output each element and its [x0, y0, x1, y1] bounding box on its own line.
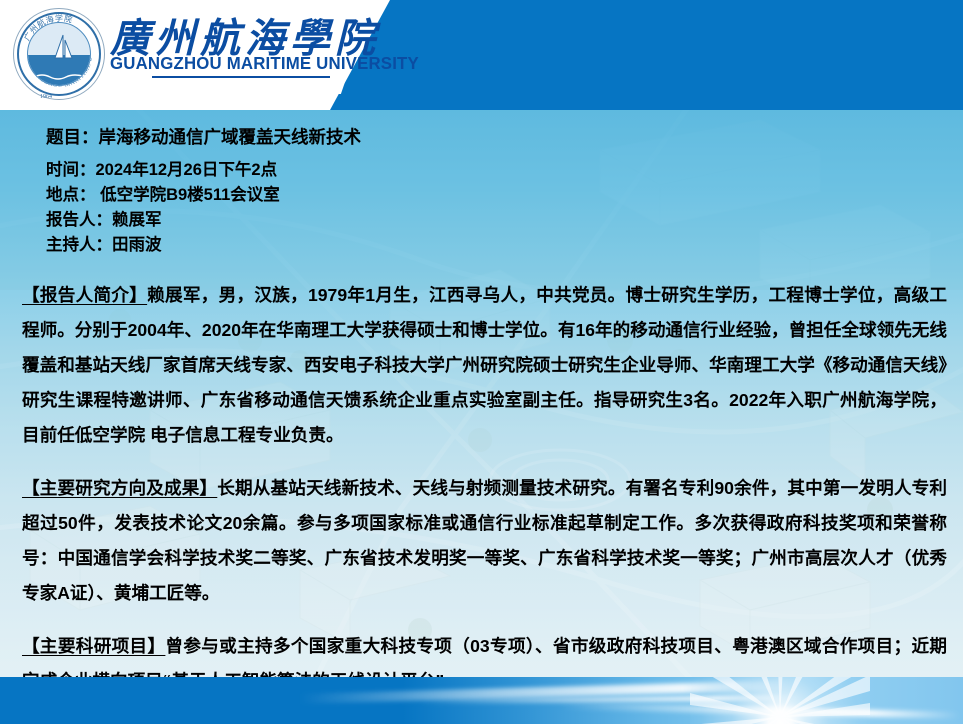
paragraph-text-speaker-bio: 赖展军，男，汉族，1979年1月生，江西寻乌人，中共党员。博士研究生学历，工程博…: [22, 285, 947, 445]
event-host: 主持人：田雨波: [46, 233, 361, 258]
poster-root: 广州航海学院 GUANGZHOU MARITIME UNIVERSITY 196…: [0, 0, 963, 724]
event-time: 时间：2024年12月26日下午2点: [46, 158, 361, 183]
wave-icon: [34, 72, 86, 80]
paragraph-list: 【报告人简介】赖展军，男，汉族，1979年1月生，江西寻乌人，中共党员。博士研究…: [22, 278, 947, 677]
seal-year: 1964: [14, 94, 78, 100]
brand-name-english: GUANGZHOU MARITIME UNIVERSITY: [110, 53, 419, 74]
paragraph-speaker-bio: 【报告人简介】赖展军，男，汉族，1979年1月生，江西寻乌人，中共党员。博士研究…: [22, 278, 947, 453]
poster-body: 题目：岸海移动通信广域覆盖天线新技术 时间：2024年12月26日下午2点 地点…: [0, 110, 963, 677]
paragraph-lead-research-projects: 【主要科研项目】: [22, 636, 165, 656]
event-title: 题目：岸海移动通信广域覆盖天线新技术: [46, 124, 361, 150]
header-banner: 广州航海学院 GUANGZHOU MARITIME UNIVERSITY 196…: [0, 0, 963, 110]
university-seal-logo: 广州航海学院 GUANGZHOU MARITIME UNIVERSITY 196…: [13, 8, 105, 100]
seal-inner-disc: [27, 22, 91, 86]
footer-sun-glow: [690, 677, 870, 724]
paragraph-research-projects: 【主要科研项目】曾参与或主持多个国家重大科技专项（03专项）、省市级政府科技项目…: [22, 629, 947, 677]
event-speaker: 报告人：赖展军: [46, 208, 361, 233]
sailboat-icon: [52, 34, 74, 62]
event-location: 地点： 低空学院B9楼511会议室: [46, 183, 361, 208]
header-blue-shape: [330, 0, 963, 110]
paragraph-lead-research-results: 【主要研究方向及成果】: [22, 478, 217, 498]
event-info-block: 题目：岸海移动通信广域覆盖天线新技术 时间：2024年12月26日下午2点 地点…: [46, 124, 361, 258]
footer-band: [0, 677, 963, 724]
paragraph-lead-speaker-bio: 【报告人简介】: [22, 285, 147, 305]
header-subtitle: 学术交流预告: [147, 78, 321, 110]
paragraph-research-results: 【主要研究方向及成果】长期从基站天线新技术、天线与射频测量技术研究。有署名专利9…: [22, 471, 947, 611]
